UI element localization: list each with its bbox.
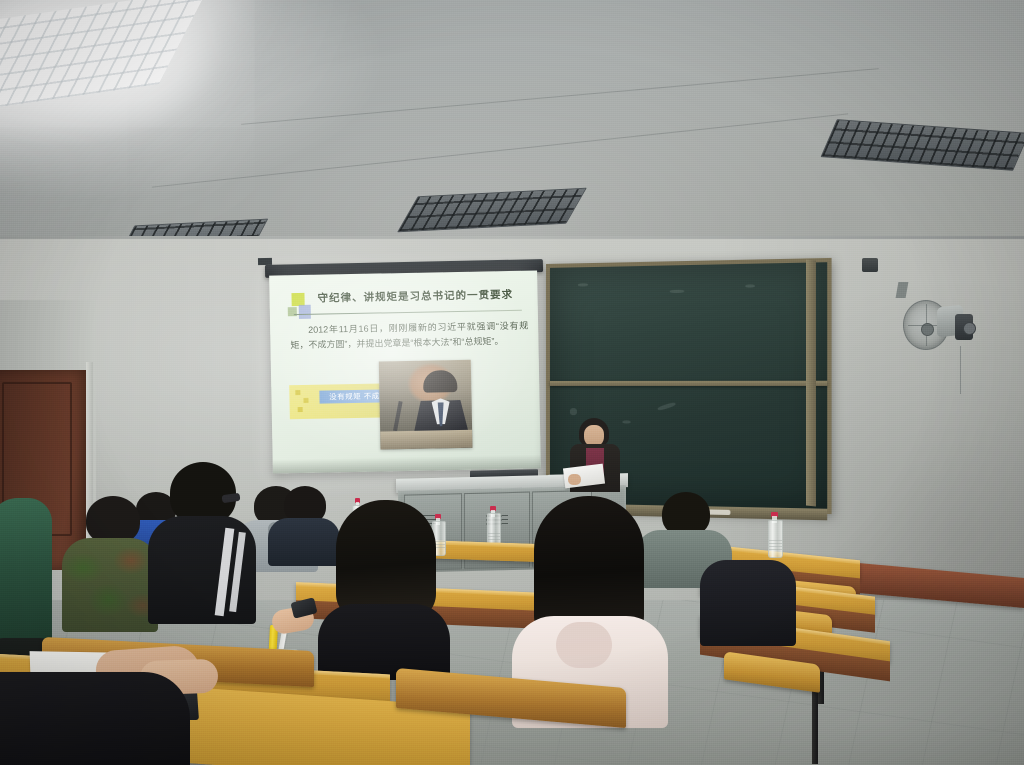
chalk-smudge	[670, 290, 685, 293]
wall-ceiling-junction	[0, 236, 1024, 239]
student-black-tracksuit	[148, 462, 256, 622]
slide-title: 守纪律、讲规矩是习总书记的一贯要求	[317, 288, 529, 306]
banner-dot	[298, 407, 303, 412]
student-long-hair	[336, 500, 436, 620]
eyeglasses-icon	[222, 493, 241, 503]
slide-accent-square-icon	[299, 305, 311, 319]
chalk-smudge	[745, 284, 755, 287]
fan-pull-cord[interactable]	[960, 346, 961, 394]
bottle-body	[768, 520, 783, 558]
presenter-hand	[568, 474, 581, 485]
presentation-slide: 守纪律、讲规矩是习总书记的一贯要求 2012年11月16日，刚刚履新的习近平就强…	[269, 270, 541, 473]
bottle-ribs	[488, 532, 500, 541]
slide-divider-rule	[294, 310, 522, 315]
slide-speaker-photo	[379, 360, 473, 450]
projection-screen: 守纪律、讲规矩是习总书记的一贯要求 2012年11月16日，刚刚履新的习近平就强…	[269, 270, 541, 473]
slide-body-text: 2012年11月16日，刚刚履新的习近平就强调“没有规矩，不成方圆”，并提出党章…	[290, 319, 529, 353]
blackboard-side-trim	[806, 259, 816, 506]
student-long-hair-black-coat	[318, 500, 450, 676]
fan-knob[interactable]	[963, 322, 976, 335]
wall-mounted-box	[862, 258, 878, 272]
student-torso	[700, 560, 796, 646]
photo-desk	[380, 430, 472, 450]
student-head	[86, 496, 140, 544]
photo-hair	[423, 370, 457, 393]
wall-fan-icon[interactable]	[903, 296, 977, 358]
student-dark-jacket-rear	[700, 560, 796, 646]
student-torso-camo	[62, 538, 158, 632]
banner-dot	[303, 398, 308, 403]
microphone-icon	[393, 401, 403, 431]
fan-wall-mount	[896, 282, 909, 298]
student-camouflage-jacket	[62, 496, 158, 632]
banner-dot	[295, 390, 300, 395]
presenter	[566, 418, 626, 492]
chalk-smudge	[578, 283, 588, 286]
chalk-smudge	[570, 408, 577, 415]
bottle-ribs	[769, 540, 782, 549]
green-hair	[0, 498, 52, 656]
hoodie-hood	[556, 622, 612, 668]
chalk-smudge	[657, 402, 676, 412]
student-head	[170, 462, 236, 524]
student-torso	[318, 604, 450, 680]
lecture-hall-photo: 守纪律、讲规矩是习总书记的一贯要求 2012年11月16日，刚刚履新的习近平就强…	[0, 0, 1024, 765]
water-bottle[interactable]	[768, 512, 781, 558]
fan-hub	[921, 323, 934, 336]
student-arm-sleeve	[0, 672, 190, 765]
blackboard-divider	[550, 381, 827, 386]
